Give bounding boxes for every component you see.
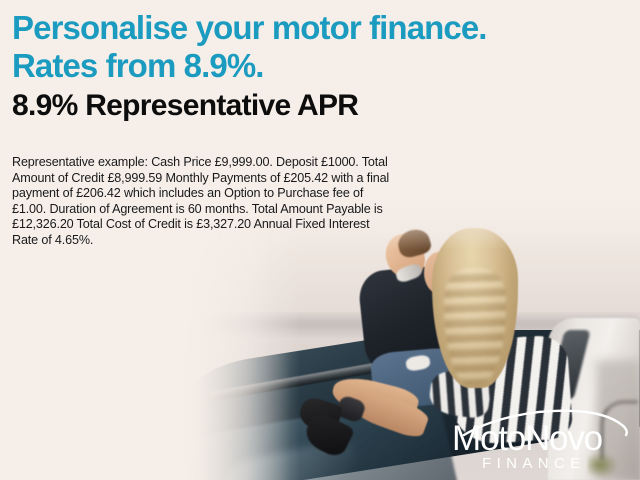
motonovo-logo: MotoNovo FINANCE xyxy=(452,412,634,476)
logo-tagline: FINANCE xyxy=(482,455,586,472)
advertisement-banner: Personalise your motor finance. Rates fr… xyxy=(0,0,640,480)
apr-subheadline: 8.9% Representative APR xyxy=(12,89,624,123)
headline: Personalise your motor finance. Rates fr… xyxy=(12,9,624,85)
advert-content: Personalise your motor finance. Rates fr… xyxy=(0,0,640,480)
representative-example-text: Representative example: Cash Price £9,99… xyxy=(12,155,396,249)
logo-wordmark: MotoNovo xyxy=(452,420,634,458)
